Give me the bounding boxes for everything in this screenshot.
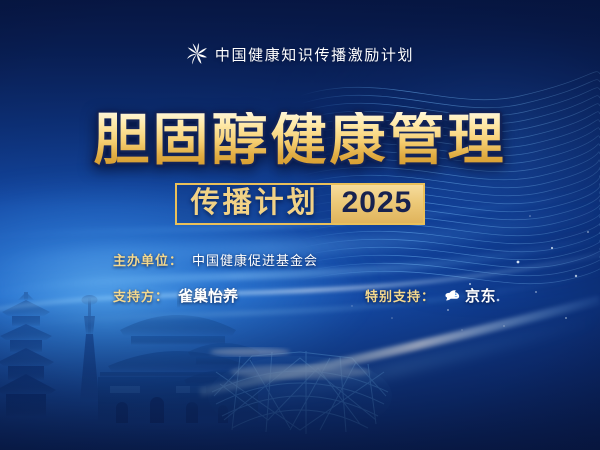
program-name-text: 中国健康知识传播激励计划 (215, 44, 414, 65)
jd-logo-lockup: 京东 (443, 285, 496, 306)
special-supporter-line: 特别支持： 京东 (365, 285, 496, 306)
petal-burst-logo-icon (186, 43, 208, 65)
subtitle-band: 传播计划 2025 (0, 183, 600, 225)
poster-content: 中国健康知识传播激励计划 胆固醇健康管理 传播计划 2025 主办单位： 中国健… (0, 0, 600, 450)
poster-canvas: 中国健康知识传播激励计划 胆固醇健康管理 传播计划 2025 主办单位： 中国健… (0, 0, 600, 450)
main-title: 胆固醇健康管理 (0, 112, 600, 168)
jd-dog-mascot-icon (443, 288, 462, 303)
organizer-label: 主办单位： (113, 250, 183, 269)
program-header: 中国健康知识传播激励计划 (0, 43, 600, 65)
subtitle-plan-text: 传播计划 (175, 183, 331, 225)
special-supporter-label: 特别支持： (365, 286, 435, 305)
supporter-label: 支持方： (113, 286, 169, 305)
supporter-line: 支持方： 雀巢怡养 (113, 285, 238, 306)
supporter-value: 雀巢怡养 (178, 285, 238, 306)
organizer-line: 主办单位： 中国健康促进基金会 (113, 250, 318, 269)
organizer-value: 中国健康促进基金会 (192, 250, 318, 269)
subtitle-year-badge: 2025 (331, 183, 426, 225)
special-supporter-value: 京东 (465, 285, 496, 306)
